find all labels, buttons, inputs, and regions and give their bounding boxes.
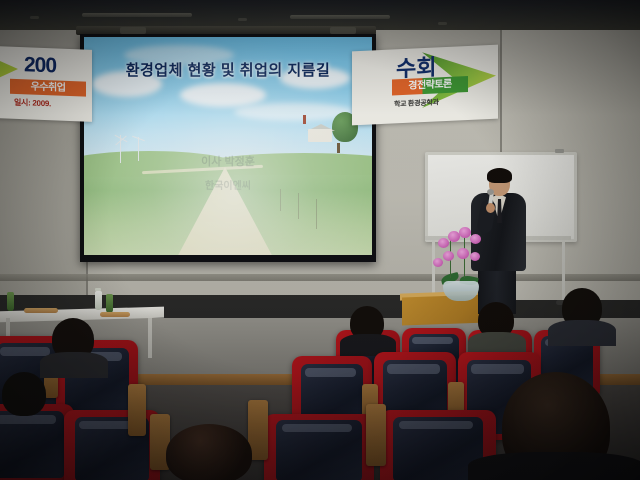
projection-screen-frame: 환경업체 현황 및 취업의 지름길 이사 박정훈 한국이엔씨 <box>80 34 376 262</box>
auditorium-seat <box>264 414 374 480</box>
audience-shoulders <box>40 352 108 378</box>
beverage-bottle <box>7 292 14 311</box>
slide-fence-post <box>298 193 299 219</box>
audience-head <box>2 372 46 416</box>
snack-plate <box>100 312 130 317</box>
orchid-bloom <box>438 238 449 248</box>
orchid-bloom <box>470 252 480 261</box>
beverage-bottle <box>106 294 113 313</box>
slide-house <box>308 129 332 142</box>
orchid-pot <box>443 281 479 301</box>
speaker-hair <box>487 168 512 183</box>
projection-screen: 환경업체 현황 및 취업의 지름길 이사 박정훈 한국이엔씨 <box>84 37 372 255</box>
snack-plate <box>24 308 58 313</box>
seat-sheen <box>305 368 356 377</box>
ceiling-light-fixture <box>82 13 192 17</box>
seat-armrest <box>366 404 386 466</box>
slide-subtitle-presenter: 이사 박정훈 <box>84 153 372 169</box>
orchid-bloom <box>470 234 481 244</box>
slide-chimney <box>303 115 306 124</box>
banner-right-dept: 학교 환경공학과 <box>394 97 439 109</box>
slide-title: 환경업체 현황 및 취업의 지름길 <box>84 59 372 80</box>
table-leg <box>148 318 152 358</box>
seat-sheen <box>399 421 473 429</box>
seat-armrest <box>128 384 146 436</box>
auditorium-seat <box>0 404 74 480</box>
speaker-hand <box>486 203 495 213</box>
bottle-cap <box>95 288 101 291</box>
orchid-bloom <box>457 248 469 259</box>
banner-right: 수회 경전략토론 학교 환경공학과 <box>352 45 498 126</box>
orchid-bloom <box>443 251 454 261</box>
seat-sheen <box>471 364 523 374</box>
lecture-hall-photo: 환경업체 현황 및 취업의 지름길 이사 박정훈 한국이엔씨 200 우수취업 … <box>0 0 640 480</box>
slide-fence-post <box>280 189 281 211</box>
podium <box>402 294 488 325</box>
screen-roller-bracket <box>120 27 146 34</box>
water-bottle <box>95 291 102 310</box>
seat-sheen <box>412 337 453 344</box>
slide-subtitle-company: 한국이엔씨 <box>84 177 372 192</box>
banner-left-highlight-label: 우수취업 <box>10 79 86 97</box>
seat-sheen <box>0 415 56 424</box>
orchid-bloom <box>459 227 471 238</box>
orchid-bloom <box>433 258 443 267</box>
microphone-head-icon <box>487 189 494 195</box>
audience-shoulders <box>468 452 640 480</box>
banner-left: 200 우수취업 일시: 2009. <box>0 46 92 122</box>
wall-dado-line <box>0 274 640 281</box>
banner-left-highlight: 우수취업 <box>10 79 86 97</box>
ceiling-vent <box>238 18 247 21</box>
screen-roller-bracket <box>330 27 356 34</box>
ceiling-vent <box>30 16 39 19</box>
audience-head <box>166 424 252 480</box>
banner-left-date: 일시: 2009. <box>14 97 51 109</box>
seat-sheen <box>0 347 50 356</box>
audience-shoulders <box>548 320 616 346</box>
whiteboard-clip <box>555 149 564 153</box>
slide-tree-trunk <box>337 143 340 153</box>
ceiling-light-fixture <box>290 15 390 19</box>
banner-left-year: 200 <box>24 53 56 78</box>
whiteboard-leg <box>562 240 565 302</box>
ceiling-vent <box>438 22 447 25</box>
seat-sheen <box>282 424 352 432</box>
slide-fence-post <box>316 199 317 229</box>
slide-cloud <box>180 83 266 107</box>
seat-sheen <box>387 364 439 374</box>
